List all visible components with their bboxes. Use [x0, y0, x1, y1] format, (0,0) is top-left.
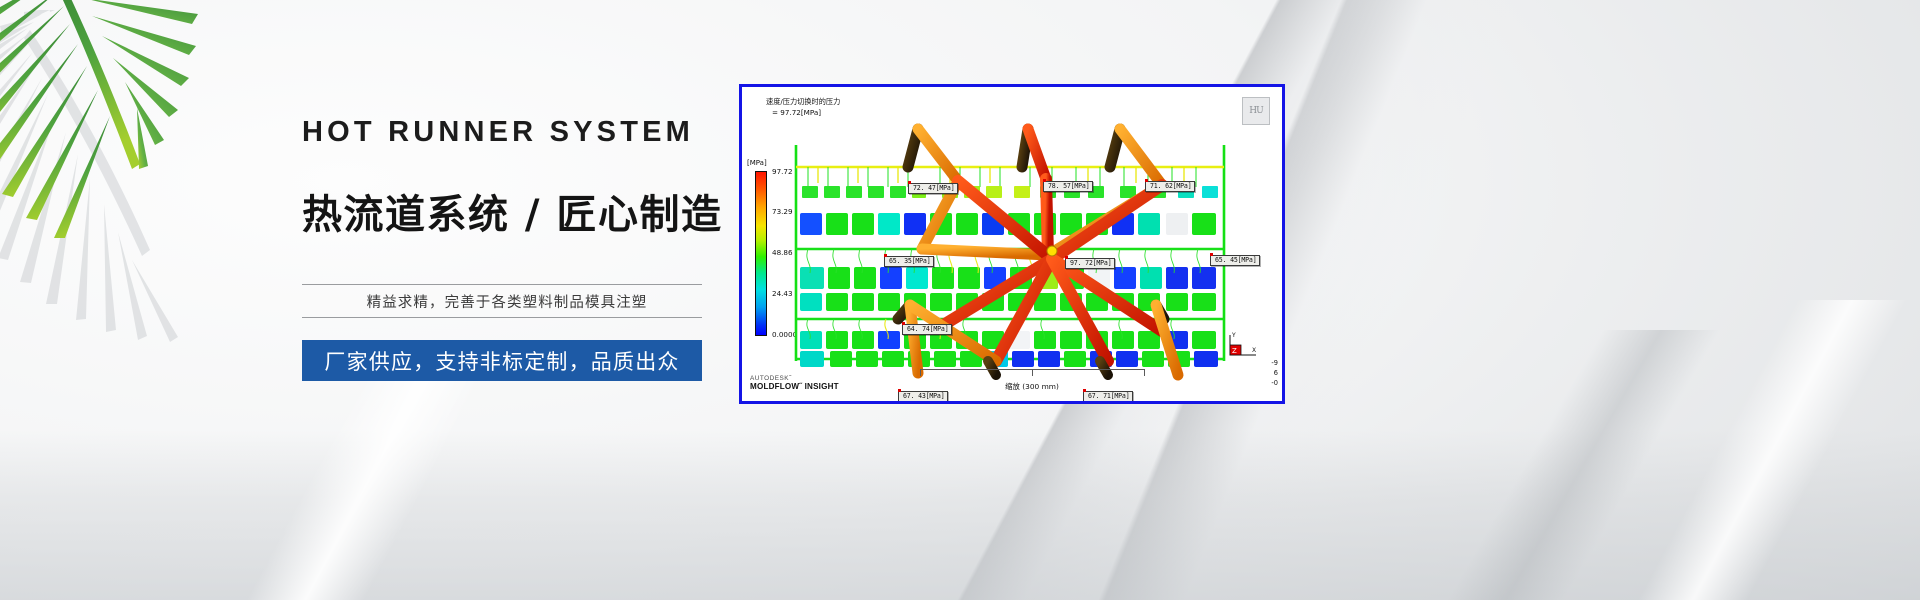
divider-bottom — [302, 317, 702, 318]
annotation-callout: 65. 35[MPa] — [884, 256, 934, 267]
cta-banner[interactable]: 厂家供应，支持非标定制，品质出众 — [302, 340, 702, 381]
annotation-callout: 67. 71[MPa] — [1083, 391, 1133, 401]
scale-tick — [1032, 369, 1033, 376]
annotation-callout: 78. 57[MPa] — [1043, 181, 1093, 192]
scale-tick — [1144, 369, 1145, 376]
figure-title-line1: 速度/压力切换时的压力 — [766, 97, 840, 108]
axis-triad-icon: Z Y X — [1226, 331, 1260, 361]
page-title-english: HOT RUNNER SYSTEM — [302, 118, 712, 147]
annotation-callout: 64. 74[MPa] — [902, 324, 952, 335]
coord-x: -9 — [1271, 359, 1278, 369]
scale-bar — [920, 369, 1144, 377]
coordinate-readout: -9 6 -0 — [1271, 359, 1278, 389]
moldflow-figure-canvas: 速度/压力切换时的压力 = 97.72[MPa] HU [MPa] 97.72 … — [742, 87, 1282, 401]
annotation-callout: 72. 47[MPa] — [908, 183, 958, 194]
figure-title-line2: = 97.72[MPa] — [766, 108, 840, 119]
moldflow-figure: 速度/压力切换时的压力 = 97.72[MPa] HU [MPa] 97.72 … — [739, 84, 1285, 404]
page-subtitle: 精益求精，完善于各类塑料制品模具注塑 — [302, 285, 712, 317]
coord-y: 6 — [1271, 369, 1278, 379]
logo-product: MOLDFLOW˝ INSIGHT — [750, 383, 839, 392]
annotation-callout: 65. 45[MPa] — [1210, 255, 1260, 266]
page-title-chinese: 热流道系统 / 匠心制造 — [302, 195, 712, 235]
scale-bar-label: 缩放 (300 mm) — [920, 381, 1144, 392]
watermark-logo: HU — [1242, 97, 1270, 125]
colorbar — [755, 171, 767, 336]
coord-z: -0 — [1271, 379, 1278, 389]
svg-text:Y: Y — [1231, 332, 1236, 339]
mold-mesh-plot — [790, 123, 1230, 383]
background-sweep-light — [1180, 300, 1920, 600]
cta-banner-label: 厂家供应，支持非标定制，品质出众 — [324, 346, 679, 376]
svg-text:X: X — [1252, 347, 1256, 354]
scale-tick — [920, 369, 921, 376]
annotation-callout: 97. 72[MPa] — [1065, 258, 1115, 269]
annotation-callout: 71. 62[MPa] — [1145, 181, 1195, 192]
autodesk-moldflow-logo: AUTODESK˝ MOLDFLOW˝ INSIGHT — [750, 376, 839, 392]
annotation-callout: 67. 43[MPa] — [898, 391, 948, 401]
figure-title: 速度/压力切换时的压力 = 97.72[MPa] — [766, 97, 840, 119]
svg-text:Z: Z — [1232, 347, 1237, 355]
hero-banner: HOT RUNNER SYSTEM 热流道系统 / 匠心制造 精益求精，完善于各… — [0, 0, 1920, 600]
hero-text-block: HOT RUNNER SYSTEM 热流道系统 / 匠心制造 精益求精，完善于各… — [302, 118, 712, 381]
colorbar-unit-label: [MPa] — [747, 159, 767, 167]
